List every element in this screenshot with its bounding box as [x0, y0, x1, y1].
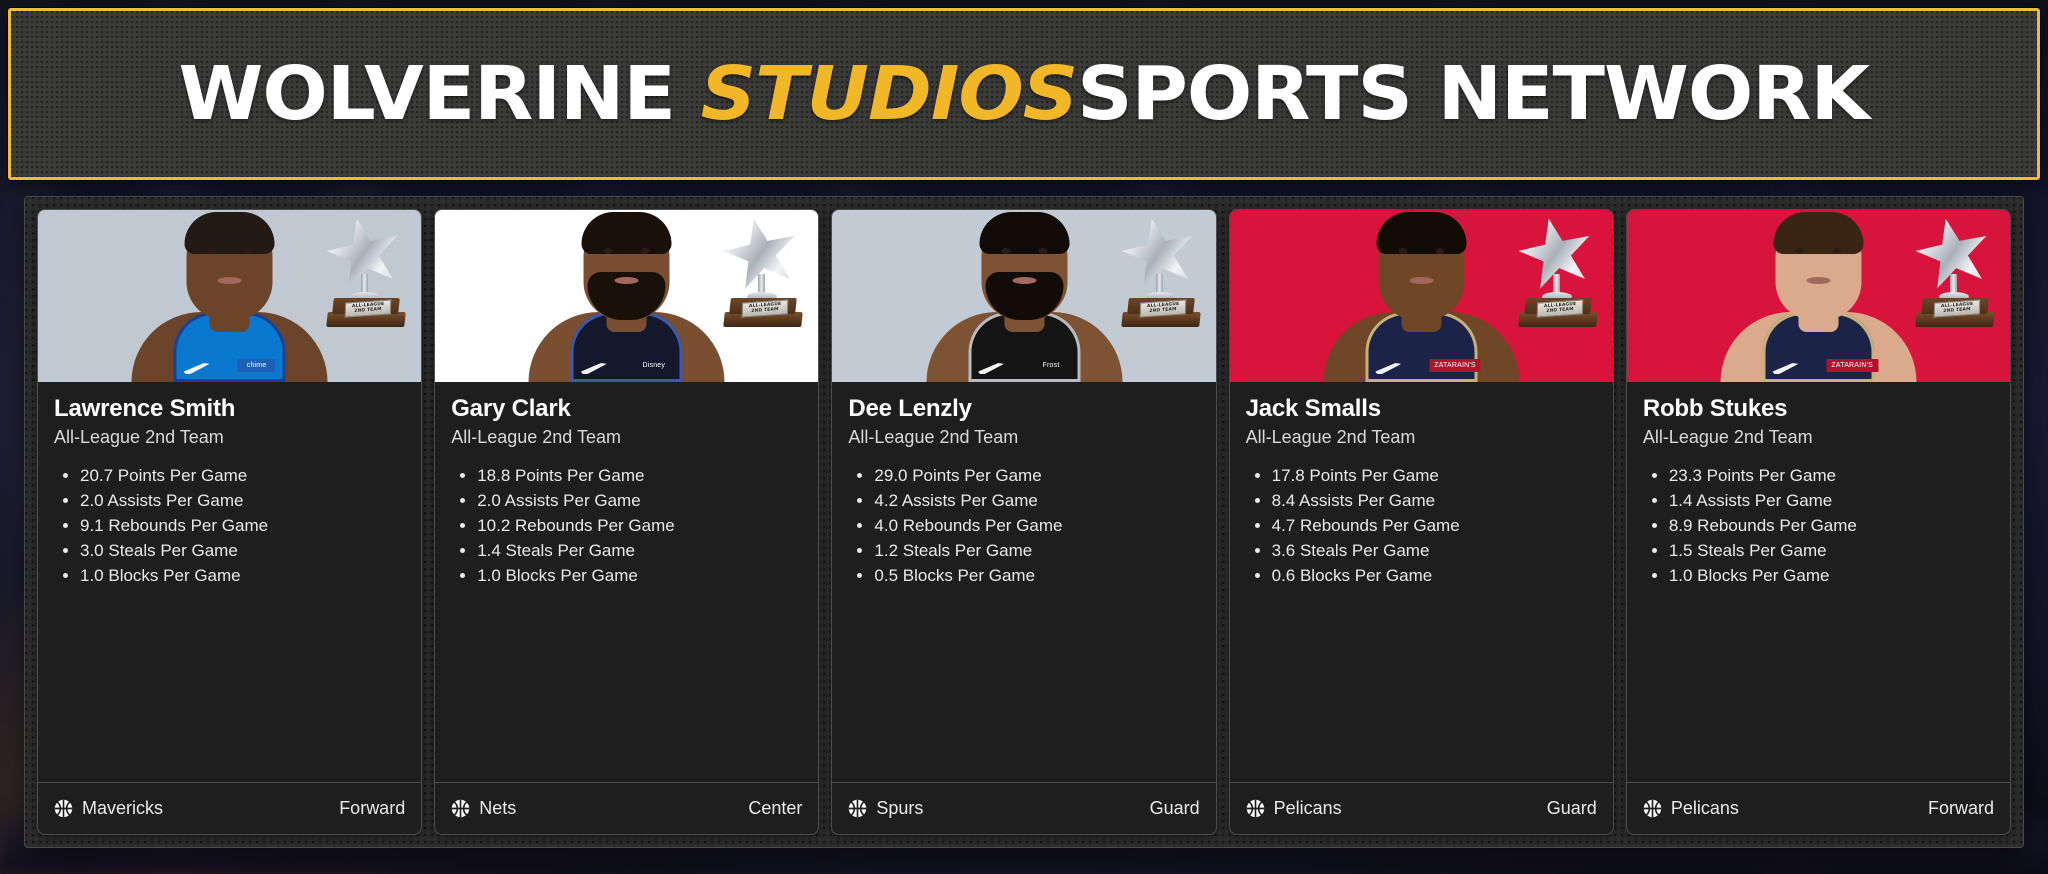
player-eye-left: [604, 248, 613, 254]
network-banner-title: WOLVERINE STUDIOSSPORTS NETWORK: [179, 57, 1870, 131]
jersey-sponsor-patch: ZATARAIN'S: [1429, 359, 1481, 372]
player-position: Guard: [1547, 798, 1597, 819]
player-card-body: Dee Lenzly All-League 2nd Team 29.0 Poin…: [832, 382, 1215, 782]
player-hair: [185, 212, 275, 254]
player-figure: Disney: [519, 210, 734, 382]
player-award-label: All-League 2nd Team: [848, 424, 1199, 451]
player-eye-right: [244, 248, 253, 254]
player-hair: [1773, 212, 1863, 254]
player-team-name: Pelicans: [1671, 798, 1739, 819]
player-team[interactable]: Pelicans: [1246, 798, 1342, 819]
player-name: Dee Lenzly: [848, 396, 1199, 423]
player-figure: ZATARAIN'S: [1314, 210, 1529, 382]
player-card-footer: Pelicans Forward: [1627, 782, 2010, 834]
player-award-label: All-League 2nd Team: [451, 424, 802, 451]
trophy-plaque-line2: 2ND TEAM: [354, 308, 382, 314]
player-award-label: All-League 2nd Team: [54, 424, 405, 451]
player-card-body: Jack Smalls All-League 2nd Team 17.8 Poi…: [1230, 382, 1613, 782]
player-eye-right: [1435, 248, 1444, 254]
stat-line: 8.4 Assists Per Game: [1272, 490, 1597, 511]
player-stat-list: 20.7 Points Per Game2.0 Assists Per Game…: [80, 465, 405, 586]
stat-line: 0.5 Blocks Per Game: [874, 565, 1199, 586]
player-mouth: [1409, 277, 1433, 284]
trophy-plaque-line2: 2ND TEAM: [1546, 308, 1574, 314]
basketball-icon: [848, 799, 867, 818]
player-portrait: ZATARAIN'S ALL-LEAGUE 2ND TEAM: [1230, 210, 1613, 382]
stat-line: 10.2 Rebounds Per Game: [477, 515, 802, 536]
stat-line: 3.0 Steals Per Game: [80, 540, 405, 561]
player-portrait: Disney ALL-LEAGUE 2ND TEAM: [435, 210, 818, 382]
basketball-icon: [1643, 799, 1662, 818]
basketball-icon: [451, 799, 470, 818]
stat-line: 0.6 Blocks Per Game: [1272, 565, 1597, 586]
player-portrait: Frost ALL-LEAGUE 2ND TEAM: [832, 210, 1215, 382]
stat-line: 2.0 Assists Per Game: [80, 490, 405, 511]
player-mouth: [1012, 277, 1036, 284]
banner-word-studios: STUDIOS: [701, 51, 1078, 137]
player-portrait: ZATARAIN'S ALL-LEAGUE 2ND TEAM: [1627, 210, 2010, 382]
player-position: Center: [748, 798, 802, 819]
player-team[interactable]: Pelicans: [1643, 798, 1739, 819]
player-name: Gary Clark: [451, 396, 802, 423]
player-mouth: [615, 277, 639, 284]
player-hair: [582, 212, 672, 254]
player-hair: [1376, 212, 1466, 254]
trophy-plaque-line2: 2ND TEAM: [1943, 308, 1971, 314]
player-award-card[interactable]: Frost ALL-LEAGUE 2ND TEAM Dee Lenzly All…: [831, 209, 1216, 835]
stat-line: 17.8 Points Per Game: [1272, 465, 1597, 486]
trophy-plaque-line2: 2ND TEAM: [752, 308, 780, 314]
player-team-name: Pelicans: [1274, 798, 1342, 819]
player-award-label: All-League 2nd Team: [1643, 424, 1994, 451]
player-card-body: Gary Clark All-League 2nd Team 18.8 Poin…: [435, 382, 818, 782]
player-team-name: Spurs: [876, 798, 923, 819]
player-award-label: All-League 2nd Team: [1246, 424, 1597, 451]
player-award-card[interactable]: chime ALL-LEAGUE 2ND TEAM Lawrence Smith…: [37, 209, 422, 835]
stat-line: 1.0 Blocks Per Game: [1669, 565, 1994, 586]
page-root: WOLVERINE STUDIOSSPORTS NETWORK chime: [0, 0, 2048, 874]
stat-line: 18.8 Points Per Game: [477, 465, 802, 486]
player-stat-list: 18.8 Points Per Game2.0 Assists Per Game…: [477, 465, 802, 586]
stat-line: 23.3 Points Per Game: [1669, 465, 1994, 486]
player-award-card[interactable]: ZATARAIN'S ALL-LEAGUE 2ND TEAM Robb Stuk…: [1626, 209, 2011, 835]
player-mouth: [218, 277, 242, 284]
award-trophy: ALL-LEAGUE 2ND TEAM: [714, 218, 806, 330]
player-eye-left: [1398, 248, 1407, 254]
award-trophy: ALL-LEAGUE 2ND TEAM: [317, 218, 409, 330]
stat-line: 20.7 Points Per Game: [80, 465, 405, 486]
player-figure: ZATARAIN'S: [1711, 210, 1926, 382]
player-position: Forward: [1928, 798, 1994, 819]
player-card-body: Robb Stukes All-League 2nd Team 23.3 Poi…: [1627, 382, 2010, 782]
player-position: Forward: [339, 798, 405, 819]
jersey-sponsor-patch: Disney: [635, 359, 673, 372]
player-eye-right: [1832, 248, 1841, 254]
stat-line: 8.9 Rebounds Per Game: [1669, 515, 1994, 536]
stat-line: 4.0 Rebounds Per Game: [874, 515, 1199, 536]
player-team-name: Nets: [479, 798, 516, 819]
player-stat-list: 23.3 Points Per Game1.4 Assists Per Game…: [1669, 465, 1994, 586]
player-card-footer: Nets Center: [435, 782, 818, 834]
player-stat-list: 29.0 Points Per Game4.2 Assists Per Game…: [874, 465, 1199, 586]
stat-line: 2.0 Assists Per Game: [477, 490, 802, 511]
network-banner: WOLVERINE STUDIOSSPORTS NETWORK: [8, 8, 2040, 180]
player-stat-list: 17.8 Points Per Game8.4 Assists Per Game…: [1272, 465, 1597, 586]
player-eye-left: [1795, 248, 1804, 254]
basketball-icon: [1246, 799, 1265, 818]
stat-line: 9.1 Rebounds Per Game: [80, 515, 405, 536]
player-card-body: Lawrence Smith All-League 2nd Team 20.7 …: [38, 382, 421, 782]
basketball-icon: [54, 799, 73, 818]
player-eye-left: [207, 248, 216, 254]
banner-word-sports-network: SPORTS NETWORK: [1077, 51, 1869, 137]
stat-line: 1.4 Steals Per Game: [477, 540, 802, 561]
stat-line: 1.0 Blocks Per Game: [477, 565, 802, 586]
stat-line: 3.6 Steals Per Game: [1272, 540, 1597, 561]
player-eye-right: [641, 248, 650, 254]
jersey-sponsor-patch: ZATARAIN'S: [1826, 359, 1878, 372]
award-trophy: ALL-LEAGUE 2ND TEAM: [1906, 218, 1998, 330]
player-name: Robb Stukes: [1643, 396, 1994, 423]
player-mouth: [1806, 277, 1830, 284]
jersey-sponsor-patch: Frost: [1032, 359, 1070, 372]
player-name: Jack Smalls: [1246, 396, 1597, 423]
player-eye-left: [1001, 248, 1010, 254]
player-card-footer: Pelicans Guard: [1230, 782, 1613, 834]
jersey-sponsor-patch: chime: [238, 359, 276, 372]
player-position: Guard: [1150, 798, 1200, 819]
player-portrait: chime ALL-LEAGUE 2ND TEAM: [38, 210, 421, 382]
player-team[interactable]: Mavericks: [54, 798, 163, 819]
stat-line: 4.7 Rebounds Per Game: [1272, 515, 1597, 536]
stat-line: 4.2 Assists Per Game: [874, 490, 1199, 511]
player-team-name: Mavericks: [82, 798, 163, 819]
player-team[interactable]: Nets: [451, 798, 516, 819]
award-trophy: ALL-LEAGUE 2ND TEAM: [1112, 218, 1204, 330]
trophy-plaque-line2: 2ND TEAM: [1149, 308, 1177, 314]
stat-line: 1.4 Assists Per Game: [1669, 490, 1994, 511]
stat-line: 1.0 Blocks Per Game: [80, 565, 405, 586]
award-cards-panel: chime ALL-LEAGUE 2ND TEAM Lawrence Smith…: [24, 196, 2024, 848]
stat-line: 29.0 Points Per Game: [874, 465, 1199, 486]
award-trophy: ALL-LEAGUE 2ND TEAM: [1509, 218, 1601, 330]
player-award-card[interactable]: ZATARAIN'S ALL-LEAGUE 2ND TEAM Jack Smal…: [1229, 209, 1614, 835]
player-eye-right: [1038, 248, 1047, 254]
player-team[interactable]: Spurs: [848, 798, 923, 819]
player-figure: chime: [122, 210, 337, 382]
stat-line: 1.2 Steals Per Game: [874, 540, 1199, 561]
player-card-footer: Spurs Guard: [832, 782, 1215, 834]
player-hair: [979, 212, 1069, 254]
player-card-footer: Mavericks Forward: [38, 782, 421, 834]
player-award-card[interactable]: Disney ALL-LEAGUE 2ND TEAM Gary Clark Al…: [434, 209, 819, 835]
stat-line: 1.5 Steals Per Game: [1669, 540, 1994, 561]
player-figure: Frost: [917, 210, 1132, 382]
player-name: Lawrence Smith: [54, 396, 405, 423]
banner-word-wolverine: WOLVERINE: [179, 51, 701, 137]
